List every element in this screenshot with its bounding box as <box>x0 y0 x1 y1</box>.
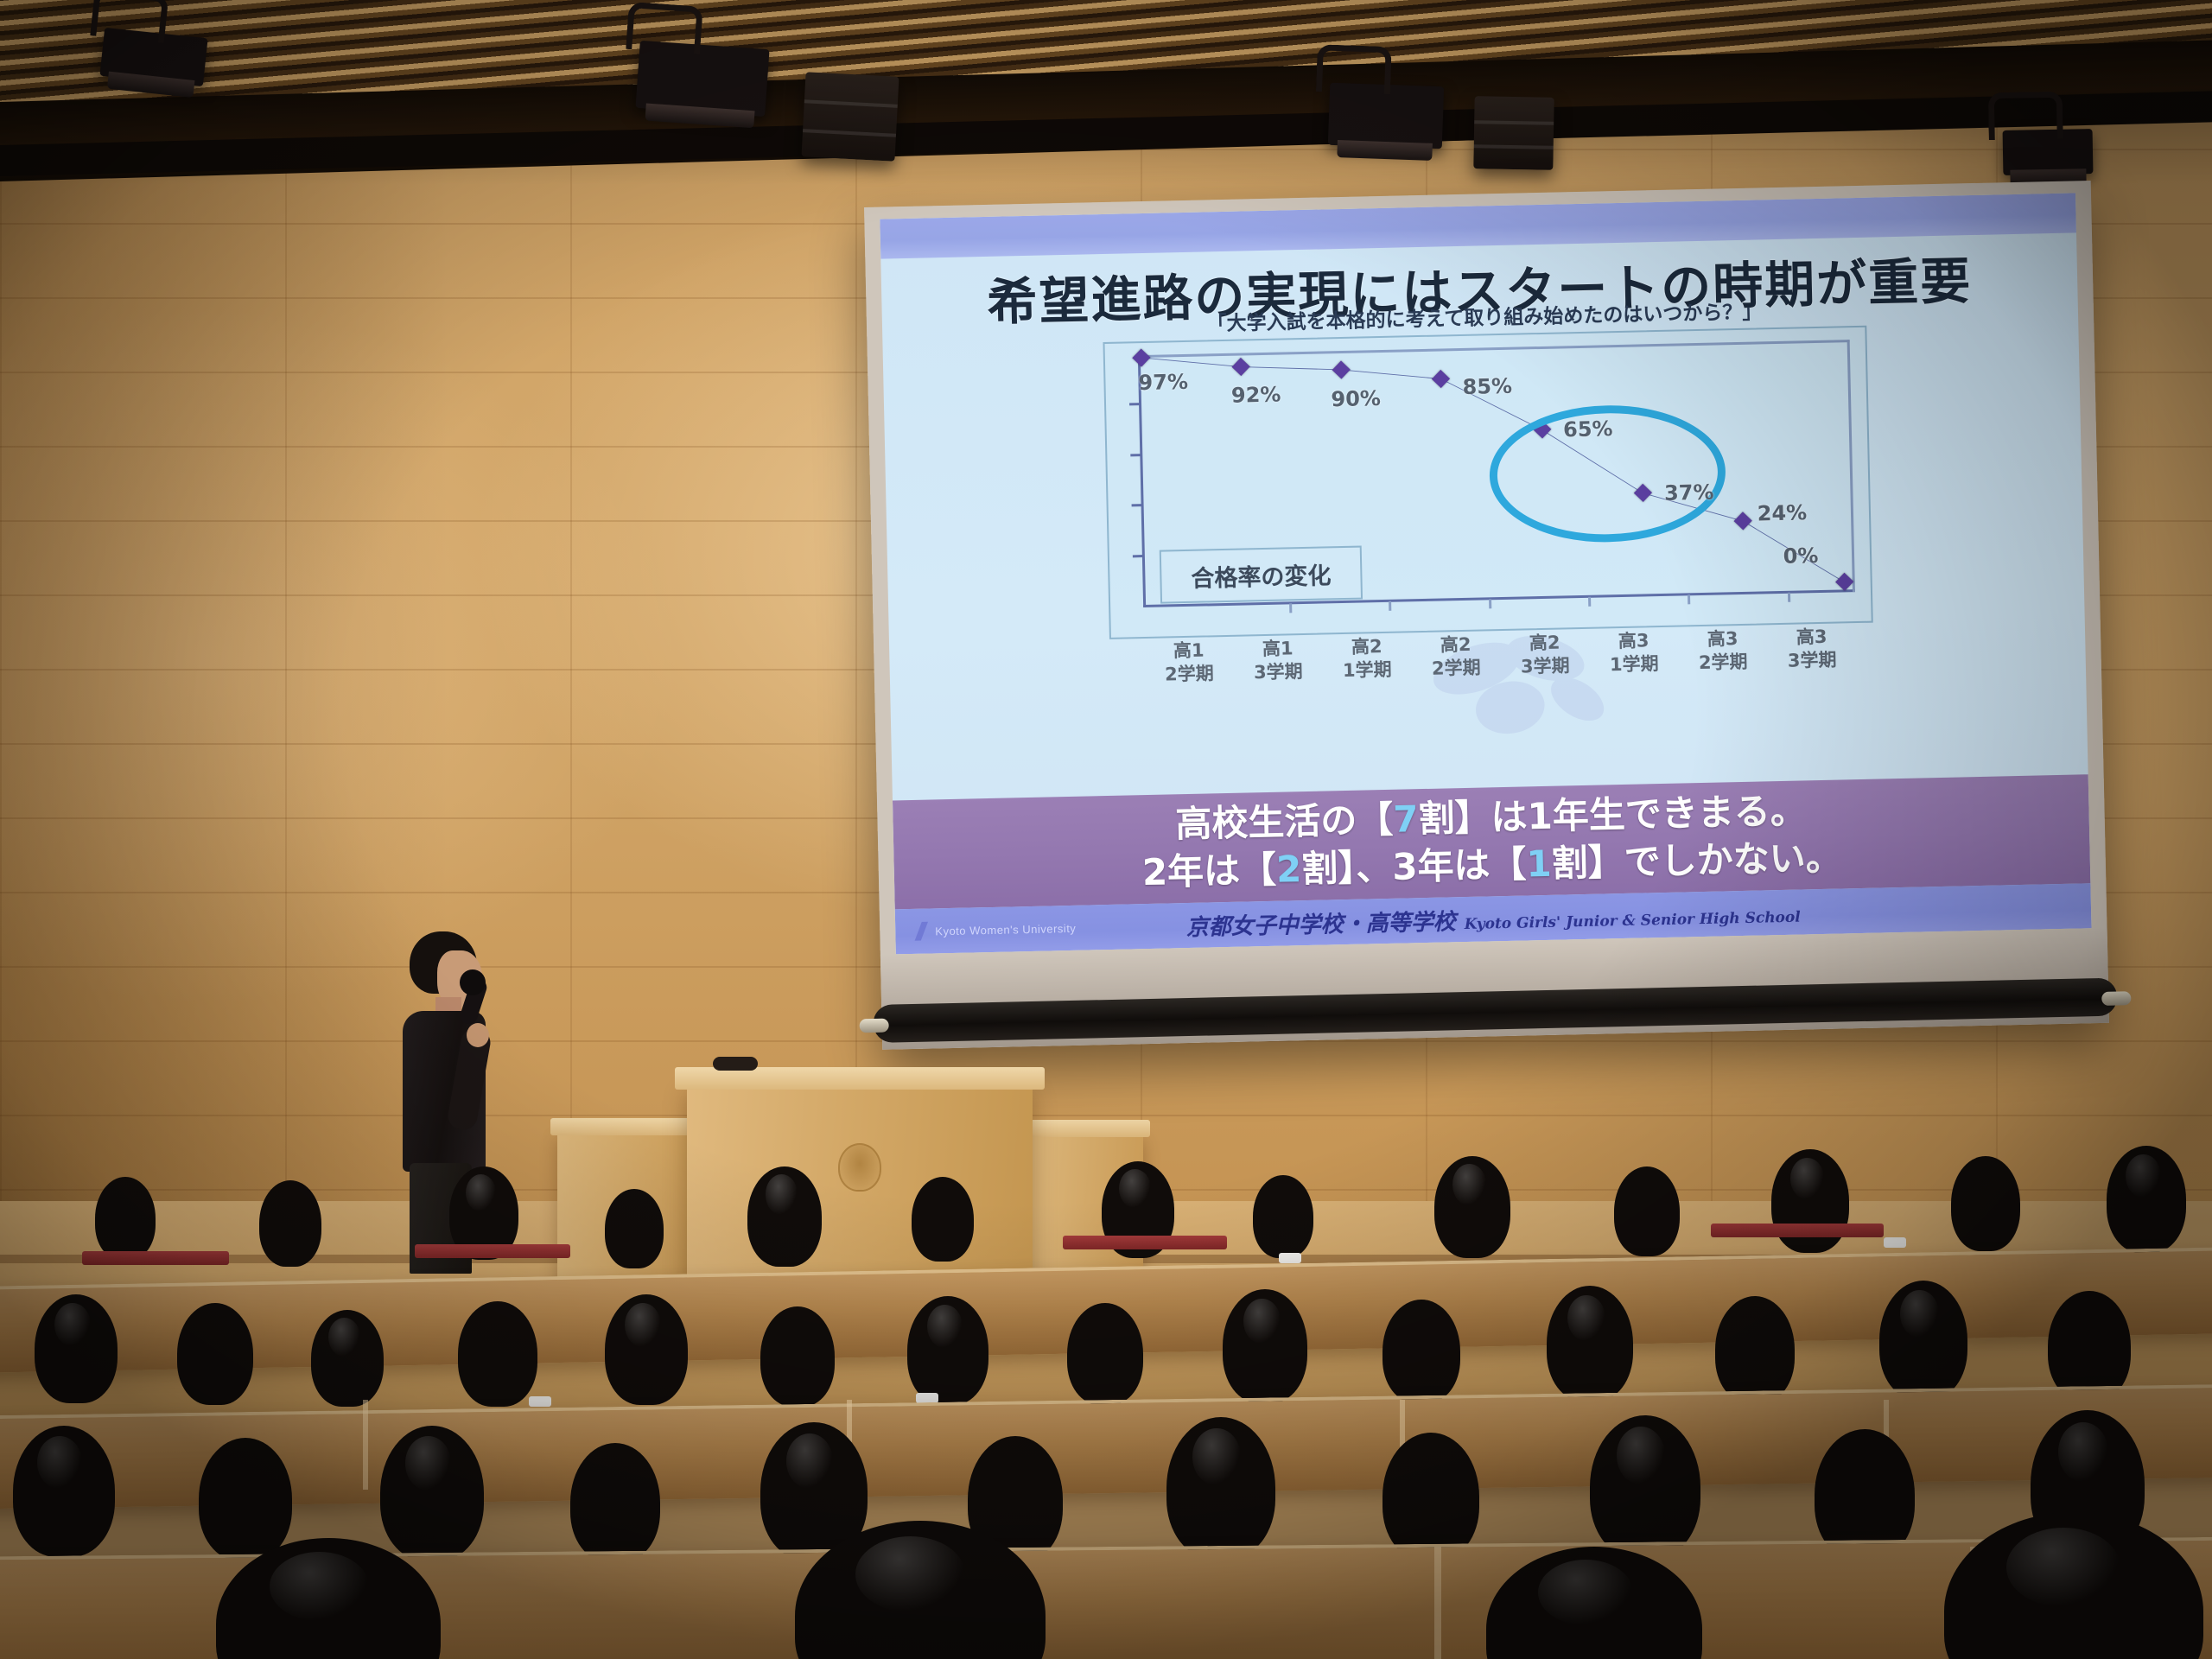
audience-head <box>1547 1286 1633 1402</box>
chart-legend-box: 合格率の変化 <box>1160 546 1363 604</box>
audience-head <box>259 1180 321 1267</box>
presenter-hand <box>467 1023 489 1047</box>
ceiling-speaker-icon <box>1473 96 1554 170</box>
presentation-slide: 希望進路の実現にはスタートの時期が重要 「大学入試を本格的に考えて取り組み始めた… <box>880 193 2091 954</box>
data-label: 0% <box>1783 543 1818 569</box>
audience-head <box>95 1177 156 1260</box>
uniform-collar <box>529 1396 551 1407</box>
audience-head <box>1382 1433 1479 1560</box>
x-axis-tick <box>1688 594 1690 604</box>
x-axis-label: 高21学期 <box>1322 634 1412 691</box>
uniform-collar <box>1884 1237 1906 1248</box>
x-axis-label: 高13学期 <box>1233 637 1323 694</box>
audience-head <box>1715 1296 1795 1403</box>
audience-head <box>13 1426 115 1557</box>
data-label: 65% <box>1563 416 1613 442</box>
audience-head <box>760 1306 835 1407</box>
stage-light-icon <box>635 41 769 117</box>
data-label: 97% <box>1138 369 1188 394</box>
audience-head <box>1771 1149 1849 1253</box>
seat-divider <box>363 1400 368 1490</box>
school-name-en: Kyoto Girls' Junior & Senior High School <box>1465 908 1801 932</box>
data-label: 90% <box>1331 386 1381 411</box>
x-axis-label: 高31学期 <box>1589 629 1679 686</box>
lectern-microphone-icon <box>713 1057 758 1071</box>
uniform-collar <box>1279 1253 1301 1263</box>
audience-head <box>35 1294 118 1403</box>
audience-head <box>1944 1512 2203 1659</box>
roller-end-cap <box>2101 991 2131 1006</box>
x-axis-tick <box>1489 599 1491 608</box>
seat-divider <box>1434 1547 1441 1659</box>
x-axis-tick <box>1389 601 1391 611</box>
x-axis-label: 高23学期 <box>1500 631 1590 688</box>
audience-head <box>1382 1300 1460 1403</box>
audience-head <box>605 1294 688 1405</box>
audience-head <box>1590 1415 1700 1559</box>
seat-cushion <box>82 1251 229 1265</box>
audience-head <box>1067 1303 1143 1405</box>
stage-light-icon <box>1328 83 1444 149</box>
audience-head <box>907 1296 988 1405</box>
seat-cushion <box>415 1244 570 1258</box>
audience-head <box>912 1177 974 1262</box>
x-axis-label: 高33学期 <box>1767 625 1857 682</box>
roller-end-cap <box>859 1019 888 1033</box>
stage-light-icon <box>99 28 207 86</box>
audience-head <box>1253 1175 1313 1258</box>
audience-head <box>1434 1156 1510 1258</box>
audience-head <box>605 1189 664 1268</box>
x-axis-category-labels: 高12学期 高13学期 高21学期 高22学期 高23学期 高31学期 高32学… <box>1144 625 1857 696</box>
audience-head <box>747 1166 822 1267</box>
x-axis-tick <box>1788 593 1790 602</box>
seat-cushion <box>1711 1224 1884 1237</box>
x-axis-label: 高32学期 <box>1678 626 1768 683</box>
x-axis-tick <box>1289 603 1292 613</box>
audience-head <box>1614 1166 1680 1256</box>
x-axis-tick <box>1588 597 1591 607</box>
audience-head <box>458 1301 537 1407</box>
banner-number-2: 2 <box>1276 848 1302 891</box>
audience-head <box>1223 1289 1307 1403</box>
data-label: 37% <box>1664 480 1714 505</box>
audience-head <box>1951 1156 2020 1251</box>
chart-container: 「大学入試を本格的に考えて取り組み始めたのはいつから？」 <box>1103 326 1872 639</box>
seat-cushion <box>1063 1236 1227 1249</box>
ceiling-speaker-icon <box>802 72 899 162</box>
audience-head <box>177 1303 253 1405</box>
data-label: 85% <box>1462 373 1512 398</box>
audience-seating <box>0 1141 2212 1659</box>
audience-head <box>570 1443 660 1562</box>
banner-number-1: 1 <box>1526 842 1552 886</box>
audience-head <box>380 1426 484 1560</box>
data-label: 24% <box>1757 501 1807 526</box>
audience-head <box>1879 1281 1967 1400</box>
auditorium-photo: 希望進路の実現にはスタートの時期が重要 「大学入試を本格的に考えて取り組み始めた… <box>0 0 2212 1659</box>
stage-light-icon <box>2003 129 2094 175</box>
microphone-head-icon <box>460 969 486 995</box>
audience-head <box>2107 1146 2186 1253</box>
audience-head <box>311 1310 384 1407</box>
audience-head <box>199 1438 292 1560</box>
projection-screen: 希望進路の実現にはスタートの時期が重要 「大学入試を本格的に考えて取り組み始めた… <box>864 181 2109 1050</box>
x-axis-label: 高12学期 <box>1144 639 1234 696</box>
audience-head <box>1166 1417 1275 1559</box>
x-axis-label: 高22学期 <box>1411 632 1501 690</box>
banner-number-7: 7 <box>1393 798 1419 842</box>
data-label: 92% <box>1231 383 1281 408</box>
